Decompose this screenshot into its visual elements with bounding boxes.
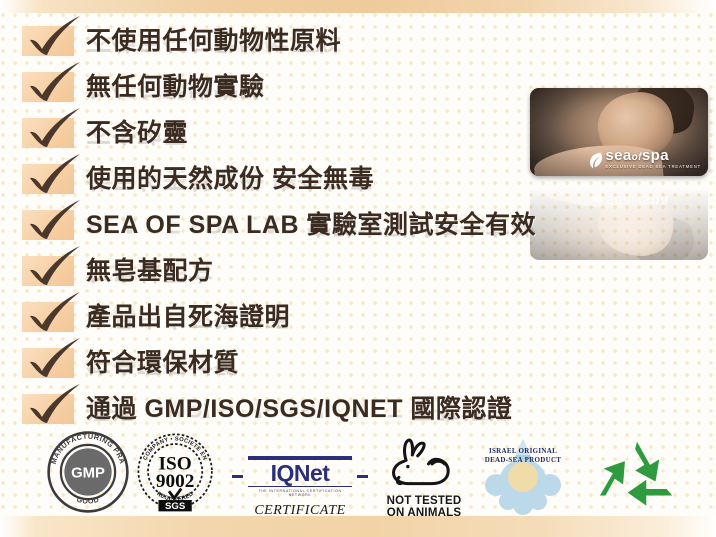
reflection-hair xyxy=(630,215,697,260)
checkbox-tile xyxy=(22,26,74,56)
cert-logo-gmp: GMP MANUFACTURING PRA GOOD xyxy=(40,430,136,519)
recycle-icon xyxy=(594,438,680,514)
slide-canvas: seaofspa EXCLUSIVE DEAD SEA TREATMENT se… xyxy=(0,0,716,537)
checklist-item-label: 使用的天然成份 安全無毒 xyxy=(86,158,374,200)
cert-logo-not-tested-on-animals: NOT TESTED ON ANIMALS xyxy=(372,437,476,519)
checkbox-tile xyxy=(22,164,74,194)
checkbox-tile xyxy=(22,302,74,332)
cert-logo-dead-sea-product: ISRAEL ORIGINAL DEAD-SEA PRODUCT xyxy=(468,433,578,519)
iqnet-top-rule xyxy=(248,456,353,460)
dead-sea-label-line1: ISRAEL ORIGINAL xyxy=(468,447,578,456)
checklist-item: 符合環保材質符合環保材質 xyxy=(22,342,582,388)
iqnet-title: IQNet xyxy=(248,462,353,485)
cert-logo-recycle xyxy=(585,438,689,519)
gmp-seal-icon: GMP MANUFACTURING PRA GOOD xyxy=(46,430,130,514)
checkbox-tile xyxy=(22,348,74,378)
checklist-item: 產品出自死海證明產品出自死海證明 xyxy=(22,296,582,342)
checklist-item-label: SEA OF SPA LAB 實驗室測試安全有效 xyxy=(86,204,536,246)
bottom-accent-bar xyxy=(0,516,716,537)
certification-logo-strip: GMP MANUFACTURING PRA GOOD ISO 9002 xyxy=(0,427,716,519)
checklist-item-label: 無皂基配方 xyxy=(86,250,214,292)
checklist-item: SEA OF SPA LAB 實驗室測試安全有效SEA OF SPA LAB 實… xyxy=(22,204,582,250)
sea-of-spa-logo: seaofspa EXCLUSIVE DEAD SEA TREATMENT xyxy=(589,148,701,169)
brand-word-spa: spa xyxy=(642,147,669,164)
svg-text:GMP: GMP xyxy=(71,465,105,481)
reflection-word-spa: spa xyxy=(642,192,669,209)
rabbit-label-line1: NOT TESTED xyxy=(372,495,476,507)
iqnet-bottom-rule xyxy=(248,486,353,487)
brand-word-sea: sea xyxy=(605,147,631,164)
checklist-item-label: 無任何動物實驗 xyxy=(86,66,265,108)
dead-sea-label: ISRAEL ORIGINAL DEAD-SEA PRODUCT xyxy=(468,447,578,465)
dead-sea-label-line2: DEAD-SEA PRODUCT xyxy=(468,456,578,465)
checklist-item-label: 通過 GMP/ISO/SGS/IQNET 國際認證 xyxy=(86,388,512,430)
cert-logo-iqnet: IQNet THE INTERNATIONAL CERTIFICATION NE… xyxy=(232,448,368,519)
feature-checklist: 不使用任何動物性原料不使用任何動物性原料無任何動物實驗無任何動物實驗不含矽靈不含… xyxy=(22,20,582,434)
svg-text:GOOD: GOOD xyxy=(76,496,101,506)
checkbox-tile xyxy=(22,72,74,102)
iso-9002-sgs-seal-icon: ISO 9002 SGS COMPANY • SOCIETE EN REGIST… xyxy=(134,430,218,514)
iqnet-block: IQNet THE INTERNATIONAL CERTIFICATION NE… xyxy=(232,448,368,519)
reflection-tagline: EXCLUSIVE DEAD SEA TREATMENT xyxy=(605,187,701,191)
checklist-item: 無皂基配方無皂基配方 xyxy=(22,250,582,296)
leaf-icon-reflection xyxy=(589,187,602,204)
brand-tagline: EXCLUSIVE DEAD SEA TREATMENT xyxy=(605,165,701,169)
checklist-item-label: 符合環保材質 xyxy=(86,342,239,384)
checklist-item: 無任何動物實驗無任何動物實驗 xyxy=(22,66,582,112)
checklist-item-label: 不使用任何動物性原料 xyxy=(86,20,341,62)
leaf-icon xyxy=(589,152,602,169)
iqnet-left-dash xyxy=(232,475,243,478)
checklist-item: 使用的天然成份 安全無毒使用的天然成份 安全無毒 xyxy=(22,158,582,204)
checkbox-tile xyxy=(22,394,74,424)
top-accent-bar xyxy=(0,0,716,13)
product-image-card: seaofspa EXCLUSIVE DEAD SEA TREATMENT xyxy=(530,88,708,176)
rabbit-icon xyxy=(380,437,468,489)
brand-word-of: of xyxy=(632,152,642,163)
reflection-word-sea: sea xyxy=(605,192,631,209)
reflection-face xyxy=(592,189,677,260)
checklist-item-label: 產品出自死海證明 xyxy=(86,296,290,338)
checklist-item-label: 不含矽靈 xyxy=(86,112,188,154)
checklist-item: 不使用任何動物性原料不使用任何動物性原料 xyxy=(22,20,582,66)
checklist-item: 不含矽靈不含矽靈 xyxy=(22,112,582,158)
checkbox-tile xyxy=(22,256,74,286)
dead-sea-splash-icon xyxy=(468,433,578,519)
reflection-brand-line: seaofspa xyxy=(605,193,701,208)
reflection-logo: seaofspa EXCLUSIVE DEAD SEA TREATMENT xyxy=(589,187,701,208)
svg-text:9002: 9002 xyxy=(156,471,195,492)
reflection-wordmark: seaofspa EXCLUSIVE DEAD SEA TREATMENT xyxy=(605,187,701,208)
iqnet-subtitle: THE INTERNATIONAL CERTIFICATION NETWORK xyxy=(248,489,353,497)
reflection-word-of: of xyxy=(632,193,642,204)
cert-logo-iso-9002: ISO 9002 SGS COMPANY • SOCIETE EN REGIST… xyxy=(128,430,224,519)
checkbox-tile xyxy=(22,210,74,240)
brand-name-line: seaofspa xyxy=(605,148,701,163)
brand-wordmark: seaofspa EXCLUSIVE DEAD SEA TREATMENT xyxy=(605,148,701,169)
checkbox-tile xyxy=(22,118,74,148)
iqnet-right-dash xyxy=(357,475,368,478)
